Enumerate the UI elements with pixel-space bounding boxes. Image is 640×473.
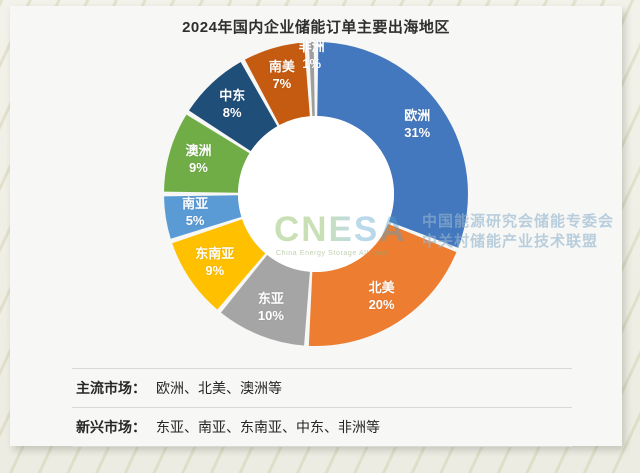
mainstream-market-value: 欧洲、北美、澳洲等 bbox=[156, 378, 282, 398]
market-summary: 主流市场： 欧洲、北美、澳洲等 新兴市场： 东亚、南亚、东南亚、中东、非洲等 bbox=[72, 368, 572, 447]
donut-chart: CNESA China Energy Storage Alliance 中国能源… bbox=[156, 34, 476, 354]
market-row-emerging: 新兴市场： 东亚、南亚、东南亚、中东、非洲等 bbox=[72, 407, 572, 447]
mainstream-market-label: 主流市场： bbox=[76, 378, 146, 398]
donut-svg bbox=[156, 34, 476, 354]
emerging-market-value: 东亚、南亚、东南亚、中东、非洲等 bbox=[156, 417, 380, 437]
donut-hole bbox=[238, 116, 394, 272]
donut-slice-8 bbox=[309, 42, 315, 116]
market-row-mainstream: 主流市场： 欧洲、北美、澳洲等 bbox=[72, 368, 572, 407]
emerging-market-label: 新兴市场： bbox=[76, 417, 146, 437]
chart-card: 2024年国内企业储能订单主要出海地区 CNESA China Energy S… bbox=[10, 6, 622, 446]
